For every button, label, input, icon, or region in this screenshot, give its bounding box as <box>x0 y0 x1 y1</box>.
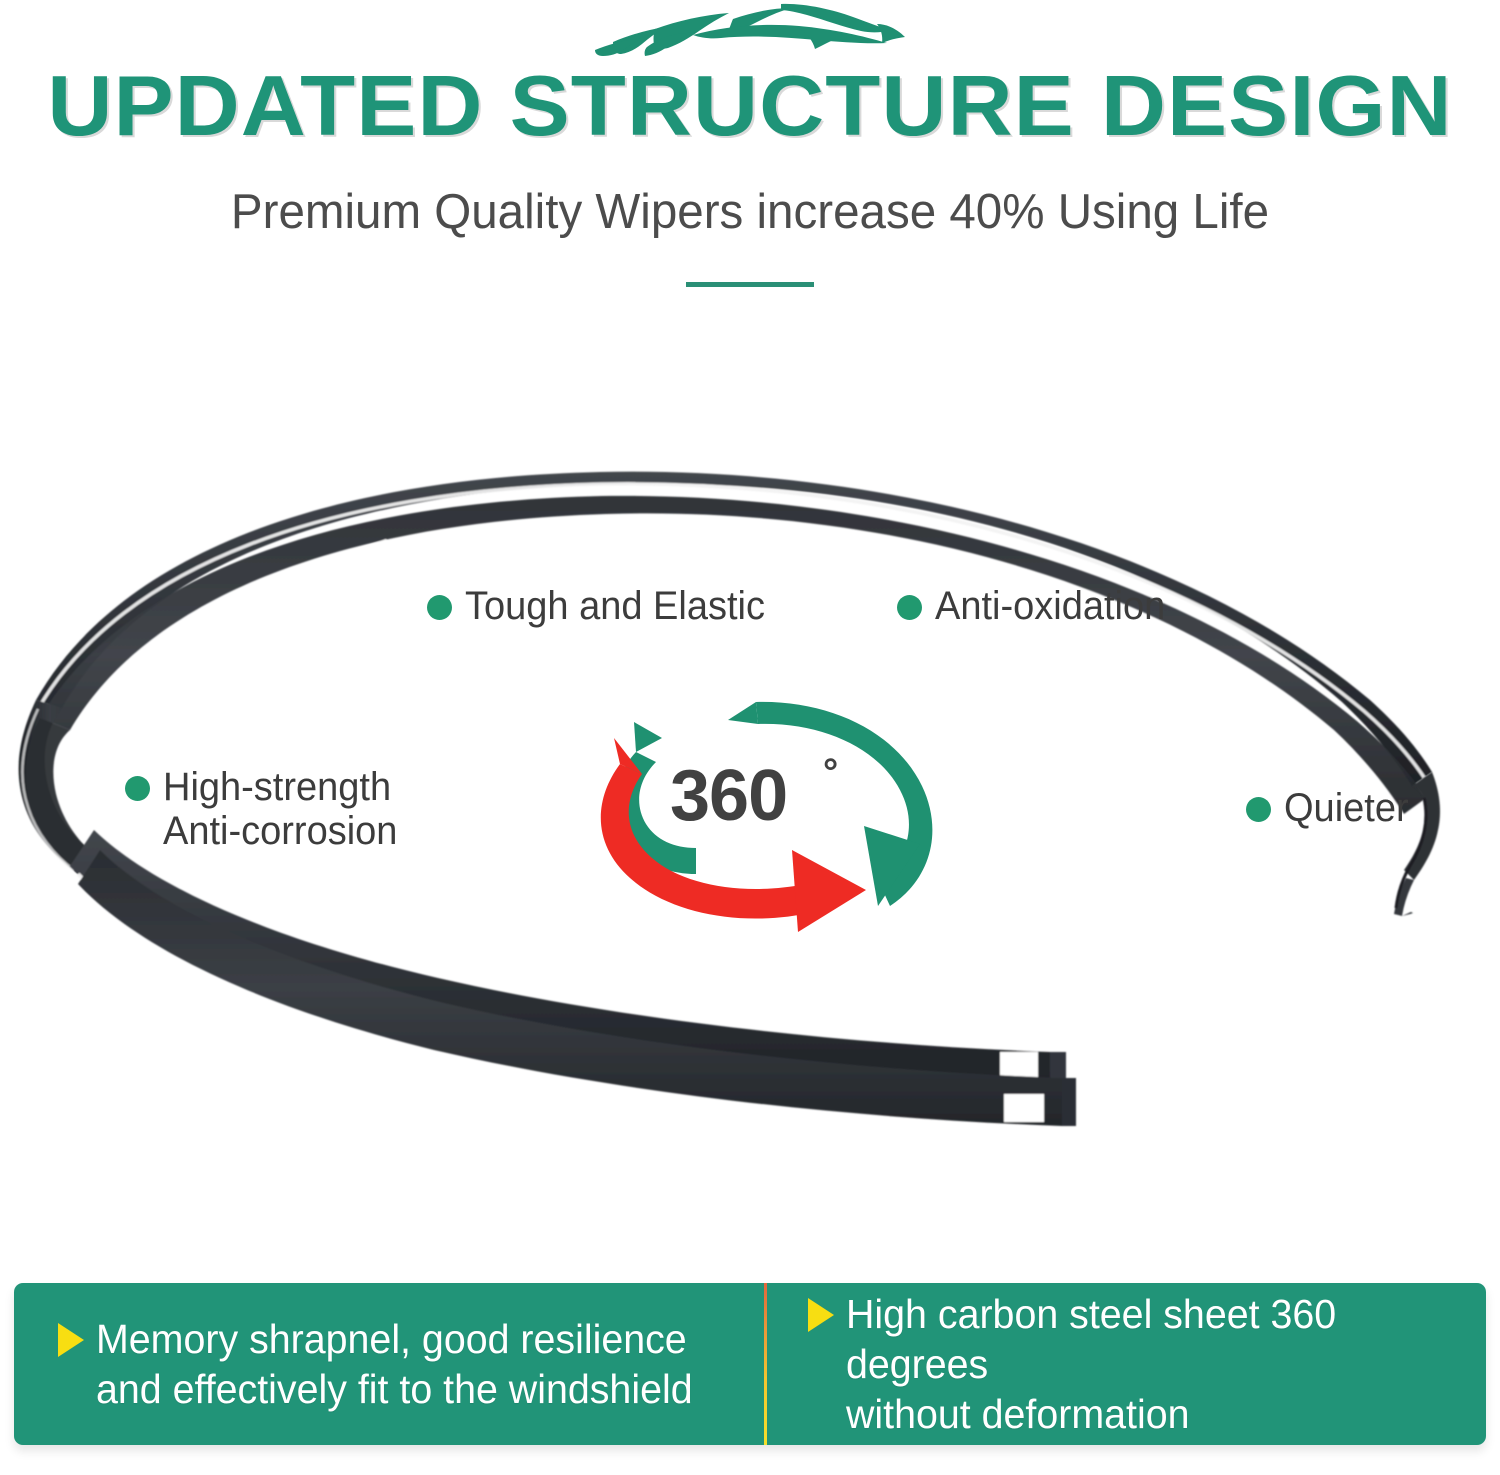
feature-label: Tough and Elastic <box>465 584 765 628</box>
bottom-banner: Memory shrapnel, good resilience and eff… <box>14 1283 1486 1445</box>
infographic-page: UPDATED STRUCTURE DESIGN Premium Quality… <box>0 0 1500 1475</box>
badge-degree-symbol: ° <box>823 752 838 795</box>
banner-panel-high-carbon-steel: High carbon steel sheet 360 degrees with… <box>764 1283 1486 1445</box>
car-silhouette-icon <box>585 2 915 66</box>
bullet-dot-icon <box>125 776 150 801</box>
triangle-right-icon <box>58 1323 84 1357</box>
feature-quieter: Quieter <box>1246 786 1415 830</box>
feature-high-strength-anti-corrosion: High-strength Anti-corrosion <box>125 765 410 853</box>
banner-panel-text: Memory shrapnel, good resilience and eff… <box>96 1314 693 1414</box>
feature-anti-oxidation: Anti-oxidation <box>897 584 1177 628</box>
banner-panel-text: High carbon steel sheet 360 degrees with… <box>846 1289 1451 1439</box>
feature-label: Anti-oxidation <box>935 584 1165 628</box>
feature-tough-and-elastic: Tough and Elastic <box>427 584 781 628</box>
badge-value: 360 <box>670 760 787 832</box>
banner-panel-memory-shrapnel: Memory shrapnel, good resilience and eff… <box>14 1283 764 1445</box>
bullet-dot-icon <box>427 595 452 620</box>
bullet-dot-icon <box>1246 797 1271 822</box>
bullet-dot-icon <box>897 595 922 620</box>
360-degree-rotation-badge: 360 ° <box>578 694 958 934</box>
triangle-right-icon <box>808 1298 834 1332</box>
title-divider <box>686 282 814 287</box>
feature-label: Quieter <box>1284 786 1409 830</box>
feature-label: High-strength Anti-corrosion <box>163 765 397 853</box>
page-title: UPDATED STRUCTURE DESIGN <box>0 64 1500 150</box>
page-subtitle: Premium Quality Wipers increase 40% Usin… <box>23 182 1478 242</box>
